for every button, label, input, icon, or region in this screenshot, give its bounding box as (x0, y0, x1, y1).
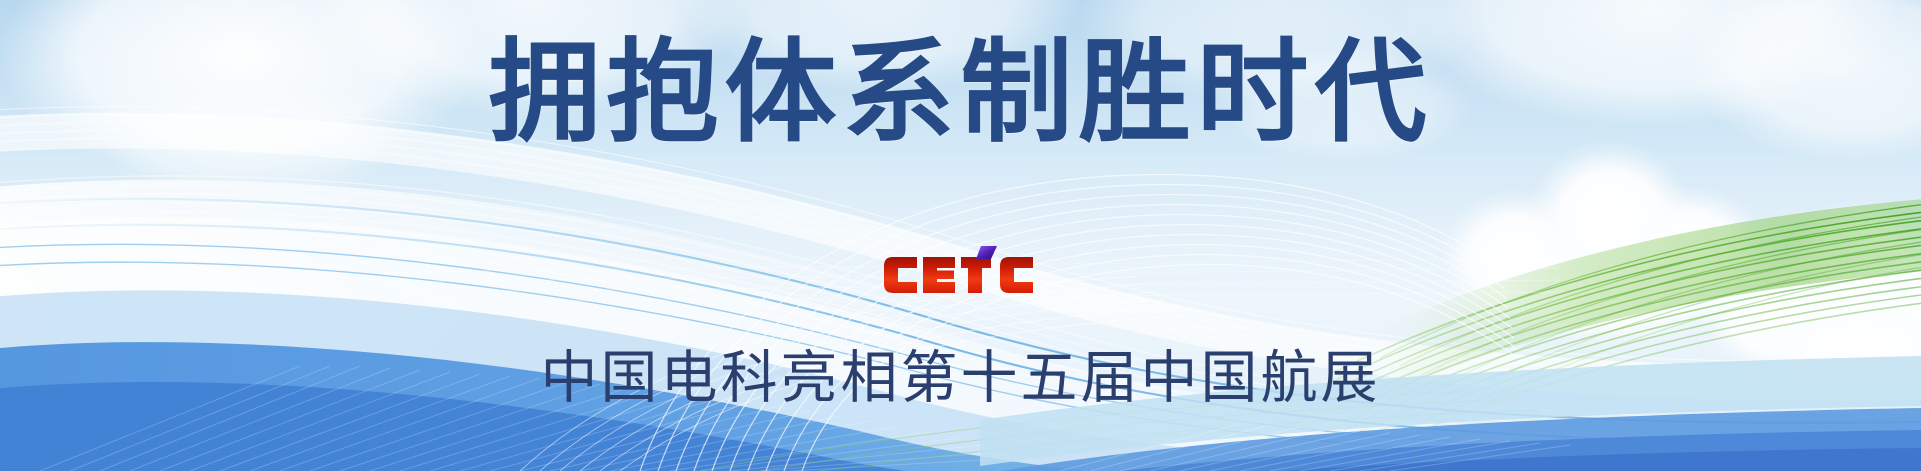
cetc-airshow-banner: 拥抱体系制胜时代 (0, 0, 1921, 471)
cetc-logo (881, 244, 1041, 300)
logo-container (0, 244, 1921, 300)
banner-headline: 拥抱体系制胜时代 (0, 34, 1921, 152)
logo-letter-c2 (1000, 257, 1033, 293)
banner-subtitle: 中国电科亮相第十五届中国航展 (0, 332, 1921, 414)
logo-accent-diamond (976, 246, 997, 259)
logo-letter-c1 (884, 257, 917, 293)
logo-letter-e (923, 257, 955, 293)
logo-letter-t (961, 257, 991, 293)
